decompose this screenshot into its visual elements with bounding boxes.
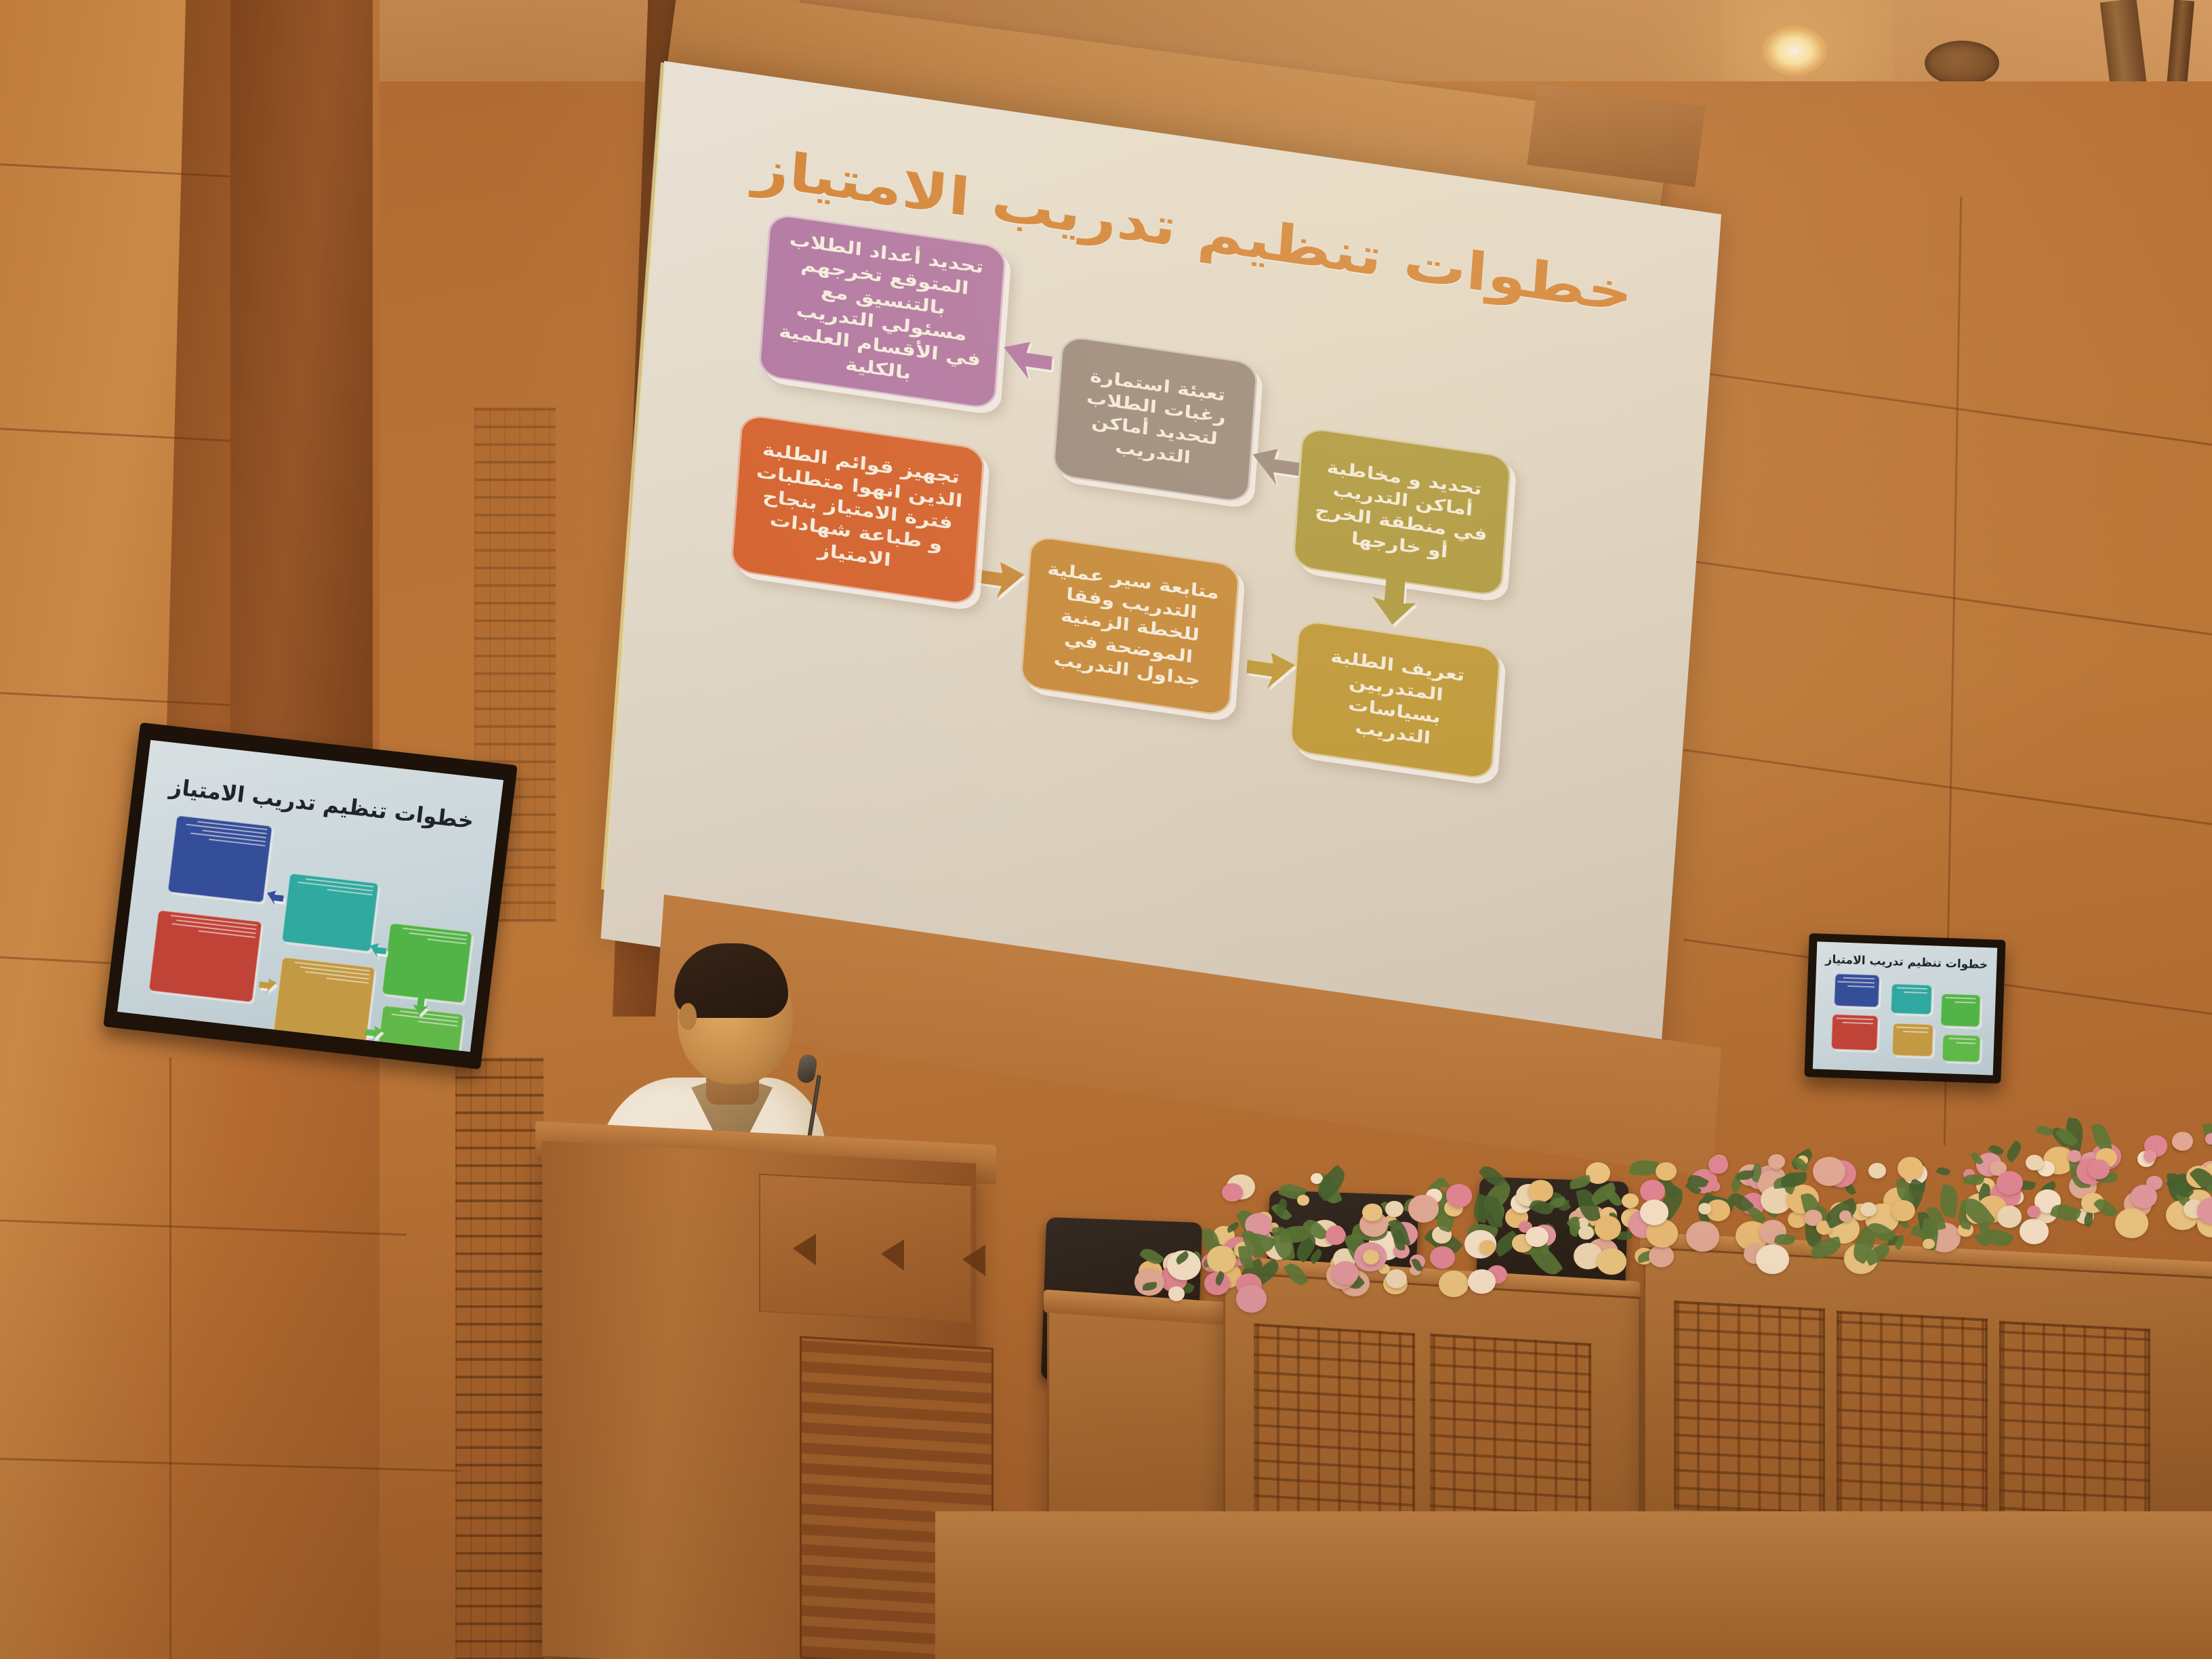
monitor-node-step-1 <box>1834 973 1880 1007</box>
ceiling-spotlight-icon <box>1762 26 1827 76</box>
flower-bloom <box>1640 1200 1668 1225</box>
acoustic-panel <box>455 1057 544 1659</box>
flower-bloom <box>2115 1208 2148 1238</box>
flower-bloom <box>1207 1246 1237 1272</box>
monitor-node-step-6 <box>1831 1014 1879 1050</box>
flower-bloom <box>1698 1203 1711 1214</box>
flower-bloom <box>1525 1227 1549 1247</box>
wall-seam-vertical <box>169 1057 171 1659</box>
flower-bloom <box>1236 1285 1267 1313</box>
slide-node-step-2-label: تعبئة استمارة رغبات الطلاب لتحديد أماكن … <box>1071 363 1240 475</box>
monitor-arrow-5 <box>256 976 279 996</box>
flower-bloom <box>1997 1206 2022 1228</box>
flower-bloom <box>1923 1239 1934 1249</box>
monitor-node-step-4 <box>1942 1034 1980 1063</box>
flower-bloom <box>1578 1226 1594 1240</box>
podium-inlay-motif <box>881 1238 904 1271</box>
monitor-node-step-1 <box>167 815 272 903</box>
flower-bloom <box>1756 1244 1789 1274</box>
flower-bloom <box>1597 1248 1626 1275</box>
monitor-node-step-5 <box>1892 1023 1934 1057</box>
confidence-monitor-right-title: خطوات تنظيم تدريب الامتياز <box>1816 952 1997 972</box>
flower-bloom <box>1996 1171 2023 1195</box>
arrow-step-1-to-2 <box>998 334 1062 387</box>
monitor-node-step-2 <box>1891 983 1932 1015</box>
flower-bloom <box>1595 1216 1621 1240</box>
podium-inlay-motif <box>793 1233 816 1265</box>
confidence-monitor-left: خطوات تنظيم تدريب الامتياز <box>103 722 518 1069</box>
flower-bloom <box>2088 1160 2110 1179</box>
monitor-arrow-2 <box>367 941 389 960</box>
flower-bloom <box>2144 1150 2156 1162</box>
slide-node-step-4: تعريف الطلبة المتدربين بسياسات التدريب <box>1289 619 1502 781</box>
slide-node-step-1: تحديد أعداد الطلاب المتوقع تخرجهم بالتنس… <box>758 213 1006 410</box>
flower-bloom <box>1640 1180 1665 1202</box>
confidence-monitor-right-screen: خطوات تنظيم تدريب الامتياز <box>1813 941 1997 1075</box>
ceiling-vent-icon <box>1925 41 1999 85</box>
podium-inlay-motif <box>962 1244 985 1276</box>
monitor-node-step-5 <box>273 957 375 1043</box>
monitor-node-step-2 <box>281 873 379 951</box>
flower-bloom <box>1708 1155 1728 1173</box>
confidence-monitor-left-screen: خطوات تنظيم تدريب الامتياز <box>117 740 504 1052</box>
slide-node-step-2: تعبئة استمارة رغبات الطلاب لتحديد أماكن … <box>1052 335 1258 504</box>
flower-bloom <box>1386 1269 1407 1288</box>
flower-bloom <box>1222 1183 1242 1202</box>
slide-node-step-3: تحديد و مخاطبة أماكن التدريب في منطقة ال… <box>1292 426 1512 597</box>
flower-bloom <box>1439 1271 1469 1297</box>
arrow-step-3-to-4 <box>1366 573 1422 632</box>
flower-bloom <box>1686 1221 1720 1252</box>
flower-bloom <box>1868 1163 1886 1179</box>
confidence-monitor-right: خطوات تنظيم تدريب الامتياز <box>1804 933 2005 1084</box>
head-table-lattice-panel <box>1837 1311 1988 1528</box>
head-table-lattice-panel <box>1999 1321 2150 1538</box>
flower-bloom <box>1891 1200 1915 1221</box>
flower-bloom <box>1622 1193 1639 1208</box>
slide-node-step-3-label: تحديد و مخاطبة أماكن التدريب في منطقة ال… <box>1311 455 1494 569</box>
monitor-node-step-3 <box>382 923 472 1004</box>
flower-bloom <box>1332 1261 1359 1285</box>
monitor-arrow-1 <box>264 888 287 908</box>
flower-bloom <box>2172 1132 2193 1151</box>
flower-bloom <box>1168 1286 1185 1301</box>
monitor-node-step-6 <box>148 910 262 1003</box>
flower-bloom <box>1479 1240 1496 1255</box>
stage-floor <box>935 1511 2212 1659</box>
monitor-arrow-4 <box>362 1023 384 1043</box>
flower-bloom <box>1363 1250 1379 1265</box>
flower-bloom <box>1860 1202 1877 1216</box>
presenter-ear <box>679 1003 697 1030</box>
flower-bloom <box>1898 1157 1923 1180</box>
flower-bloom <box>1297 1195 1309 1206</box>
slide-node-step-4-label: تعريف الطلبة المتدربين بسياسات التدريب <box>1307 643 1483 757</box>
auditorium-photo: خطوات تنظيم تدريب الامتياز تحديد أعداد ا… <box>0 0 2212 1659</box>
flower-bloom <box>1408 1195 1439 1222</box>
podium-front-panel <box>759 1174 972 1323</box>
flower-bloom <box>1362 1204 1382 1222</box>
slide-node-step-1-label: تحديد أعداد الطلاب المتوقع تخرجهم بالتنس… <box>776 228 989 395</box>
slide-node-step-5: متابعة سير عملية التدريب وفقا للخطة الزم… <box>1019 535 1240 717</box>
flower-bloom <box>2027 1206 2041 1218</box>
flower-bloom <box>2131 1185 2157 1208</box>
monitor-arrow-3 <box>411 995 430 1017</box>
flower-bloom <box>1446 1184 1472 1207</box>
slide-content: خطوات تنظيم تدريب الامتياز تحديد أعداد ا… <box>610 61 1721 962</box>
flower-bloom <box>1649 1245 1674 1267</box>
slide-node-step-5-label: متابعة سير عملية التدريب وفقا للخطة الزم… <box>1038 558 1223 695</box>
flower-bloom <box>1468 1269 1496 1294</box>
flower-bloom <box>1326 1227 1346 1245</box>
monitor-node-step-3 <box>1940 994 1981 1027</box>
head-table-lattice-panel <box>1674 1300 1825 1517</box>
arrow-step-4-to-5 <box>1239 645 1300 697</box>
slide-node-step-6-label: تجهيز قوائم الطلبة الذين انهوا متطلبات ف… <box>748 437 966 583</box>
flower-bloom <box>2068 1150 2081 1162</box>
slide-node-step-6: تجهيز قوائم الطلبة الذين انهوا متطلبات ف… <box>730 413 985 607</box>
